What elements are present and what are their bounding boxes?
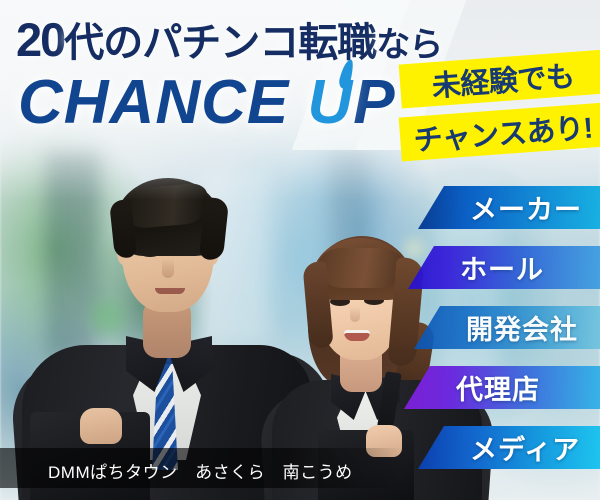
hand-man [80, 408, 122, 444]
advertisement-banner[interactable]: 20代のパチンコ転職なら CHANCE UP 未経験でも チャンスあり! メーカ… [0, 0, 600, 500]
category-label: 開発会社 [466, 308, 578, 347]
logo-text-p: P [353, 68, 395, 137]
headline-suffix: なら [376, 26, 442, 64]
category-banner-maker[interactable]: メーカー [418, 186, 600, 229]
chance-up-logotype: CHANCE UP [18, 72, 396, 134]
category-banner-hall[interactable]: ホール [408, 246, 600, 289]
background-bokeh [405, 240, 423, 258]
logo-text-chance: CHANCE [18, 68, 307, 137]
category-label: メーカー [470, 188, 582, 227]
caption-credits: DMMぱちタウン あさくら 南こうめ [48, 458, 353, 483]
category-banner-development-company[interactable]: 開発会社 [414, 306, 600, 349]
logo-letter-u-accent: U [307, 68, 353, 137]
category-banner-agency[interactable]: 代理店 [404, 366, 600, 409]
category-banner-media[interactable]: メディア [418, 426, 600, 469]
category-label: ホール [460, 248, 544, 287]
page-title: 20代のパチンコ転職なら [16, 16, 442, 63]
headline-main: 代のパチンコ転職 [64, 21, 376, 65]
category-label: メディア [470, 428, 580, 467]
headline-number: 20 [16, 13, 64, 66]
category-label: 代理店 [456, 368, 540, 407]
background-bokeh [90, 300, 124, 334]
